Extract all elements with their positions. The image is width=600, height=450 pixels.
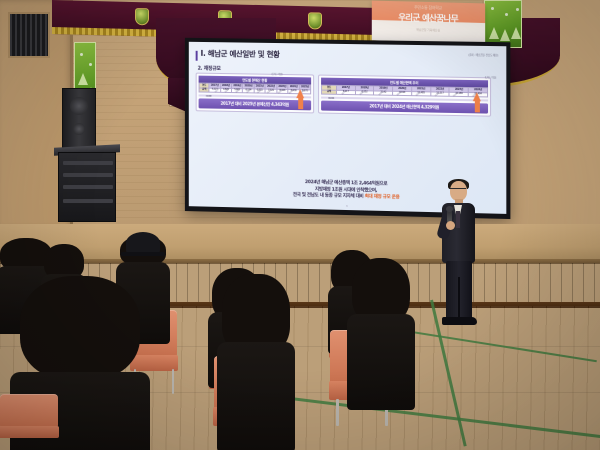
chart-x-label: 2019년 — [378, 91, 386, 99]
christmas-tree-banner — [484, 0, 522, 48]
chart-x-label: 2020년 — [396, 91, 404, 99]
presenter-head — [450, 181, 467, 201]
chart-x-label: 2021년 — [256, 89, 264, 97]
valance-emblem-icon — [135, 8, 149, 25]
title-accent-bar — [196, 51, 198, 61]
presenter-tie — [456, 211, 460, 228]
chart-x-label: 2021년 — [415, 92, 423, 100]
student-jacket — [347, 314, 414, 410]
chart-x-label: 2017년 — [214, 88, 222, 96]
up-arrow-icon — [473, 92, 482, 112]
footnote-line-3-plain: 전국 및 전남도 내 동종 규모 지자체 대비 — [293, 193, 365, 200]
chart-x-label: 2023년 — [277, 89, 285, 97]
auditorium-scene: 주민소통 참여학교 우리군 예산꿈나무 해남군청 기획예산실 (출처 : 해남군… — [0, 0, 600, 450]
chart-x-label: 2023년 — [453, 92, 461, 100]
chart-x-label: 2017년 — [340, 90, 348, 98]
presenter-hand — [446, 221, 455, 230]
audience-chair — [0, 394, 58, 450]
valance-emblem-icon — [308, 12, 322, 29]
student-cap — [126, 232, 160, 254]
presenter-speaker — [434, 181, 482, 329]
chart-x-label: 2020년 — [245, 89, 253, 97]
banner-title: 우리군 예산꿈나무 — [372, 11, 485, 26]
chart-x-label: 2022년 — [434, 92, 442, 100]
y-tick: 0 — [333, 98, 334, 100]
left-summary-bar: 2017년 대비 2025년 본예산안 4,343억원 — [199, 98, 312, 110]
left-unit-note: (단위 : 억원) — [271, 72, 282, 76]
chart-x-label: 2024년 — [288, 89, 296, 97]
right-x-labels: 2017년2018년2019년2020년2021년2022년2023년2024년 — [335, 91, 485, 100]
chart-x-label: 2018년 — [224, 88, 232, 96]
left-summary-text: 2017년 대비 2025년 본예산안 4,343억원 — [221, 101, 289, 107]
chart-card-budget-original: 연도별 본예산 현황 연도 2017년 2018년 2019년 2020년 20… — [196, 73, 314, 114]
audience-student-foreground — [222, 274, 290, 450]
slide-page-number: 3 — [346, 205, 348, 208]
slide-credit: (출처 : 해남군청, 전남도 예산) — [468, 53, 498, 57]
y-tick: 0 — [210, 96, 211, 98]
left-bar-plot: 10,000 8,000 6,000 4,000 2,000 0 2017년20… — [199, 94, 312, 98]
charts-row: 연도별 본예산 현황 연도 2017년 2018년 2019년 2020년 20… — [196, 73, 500, 117]
pa-speaker — [62, 88, 96, 150]
glasses-icon — [450, 188, 466, 191]
right-summary-text: 2017년 대비 2024년 예산현액 4,329억원 — [369, 103, 439, 109]
chart-x-label: 2022년 — [267, 89, 275, 97]
presenter-shoe — [456, 317, 477, 325]
up-arrow-icon — [296, 89, 305, 109]
chart-card-budget-current: 연도별 예산현액 추이 연도 2017년 2018년 2019년 2020년 2… — [318, 75, 491, 117]
equipment-rack — [58, 152, 116, 222]
banner-caption: 해남군청 기획예산실 — [372, 26, 485, 33]
chart-x-label: 2018년 — [359, 91, 367, 99]
right-unit-note: (단위 : 억원) — [485, 75, 496, 79]
student-jacket — [217, 342, 296, 450]
student-hair — [20, 276, 140, 380]
audience-student-foreground — [352, 258, 410, 408]
presenter-leg-gap — [458, 277, 460, 317]
slide-title-row: Ⅰ. 해남군 예산일반 및 현황 — [196, 50, 500, 66]
row-header-amount: 금액 — [199, 88, 209, 93]
left-x-labels: 2017년2018년2019년2020년2021년2022년2023년2024년… — [212, 89, 308, 97]
slide-title: Ⅰ. 해남군 예산일반 및 현황 — [201, 50, 280, 59]
chart-x-label: 2019년 — [235, 89, 243, 97]
footnote-line-3-highlight: 최대 재정 규모 운용 — [365, 195, 400, 201]
event-title-banner: 주민소통 참여학교 우리군 예산꿈나무 해남군청 기획예산실 — [372, 1, 485, 44]
wall-vent-grille — [8, 12, 50, 58]
stage-platform — [0, 224, 600, 262]
right-summary-bar: 2017년 대비 2024년 예산현액 4,329억원 — [321, 100, 488, 113]
microphone-head-icon — [446, 206, 453, 212]
